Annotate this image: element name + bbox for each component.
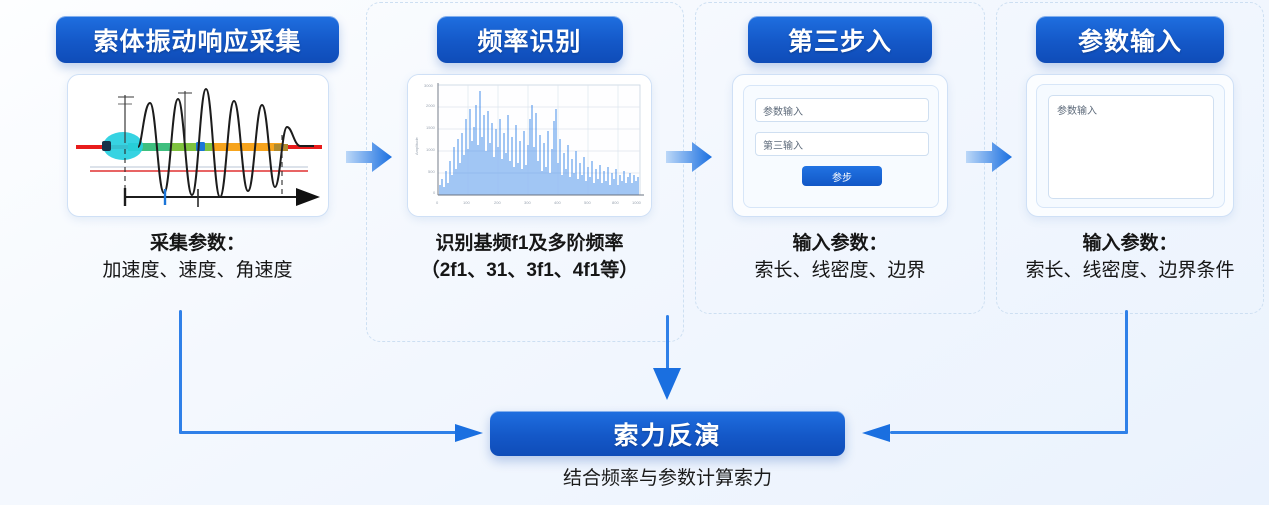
connector-left-horizontal <box>179 431 464 434</box>
svg-text:2000: 2000 <box>426 103 436 108</box>
svg-text:1000: 1000 <box>632 200 642 205</box>
step-arrow-3-icon <box>966 140 1012 174</box>
step-arrow-2-icon <box>666 140 712 174</box>
merge-arrow-right-icon <box>862 420 890 446</box>
svg-text:Amplitude: Amplitude <box>414 136 419 155</box>
vibration-waveform-chart <box>68 75 329 217</box>
step-3-caption-title: 输入参数： <box>715 231 965 258</box>
svg-text:100: 100 <box>463 200 470 205</box>
step-column-3: 第三步入 参数输入 第三输入 参步 输入参数： 索长、线密度、边界 <box>715 0 965 320</box>
svg-text:1000: 1000 <box>426 147 436 152</box>
svg-text:400: 400 <box>554 200 561 205</box>
step-1-caption: 采集参数： 加速度、速度、角速度 <box>55 231 340 285</box>
parameter-input-2[interactable]: 第三输入 <box>755 132 929 156</box>
result-subtitle: 结合频率与参数计算索力 <box>490 463 845 490</box>
merge-arrow-left-icon <box>455 420 483 446</box>
step-1-caption-title: 采集参数： <box>55 231 340 258</box>
svg-text:500: 500 <box>584 200 591 205</box>
parameter-form: 参数输入 第三输入 参步 <box>743 85 939 208</box>
parameter-submit-button[interactable]: 参步 <box>802 166 882 186</box>
connector-left-vertical <box>179 310 182 434</box>
svg-text:500: 500 <box>428 169 435 174</box>
parameter-input-1[interactable]: 参数输入 <box>755 98 929 122</box>
step-2-caption-title: 识别基频f1及多阶频率 <box>392 231 667 258</box>
step-arrow-1-icon <box>346 140 392 174</box>
frequency-spectrum-chart: 30002000 15001000 5000 0100 200300 40050… <box>408 75 652 217</box>
connector-right-horizontal <box>890 431 1128 434</box>
step-1-figure-card <box>67 74 329 217</box>
step-1-caption-body: 加速度、速度、角速度 <box>55 258 340 285</box>
step-3-caption: 输入参数： 索长、线密度、边界 <box>715 231 965 285</box>
step-1-header[interactable]: 索体振动响应采集 <box>56 16 339 63</box>
merge-arrow-down-icon <box>650 368 684 402</box>
step-2-figure-card: 30002000 15001000 5000 0100 200300 40050… <box>407 74 652 217</box>
step-4-caption: 输入参数： 索长、线密度、边界条件 <box>1010 231 1250 285</box>
connector-right-vertical <box>1125 310 1128 434</box>
step-2-caption-body: （2f1、31、3f1、4f1等） <box>392 258 667 285</box>
svg-text:200: 200 <box>494 200 501 205</box>
step-3-figure-card: 参数输入 第三输入 参步 <box>732 74 948 217</box>
step-2-caption: 识别基频f1及多阶频率 （2f1、31、3f1、4f1等） <box>392 231 667 285</box>
step-column-4: 参数输入 参数输入 输入参数： 索长、线密度、边界条件 <box>1010 0 1250 320</box>
svg-text:300: 300 <box>524 200 531 205</box>
result-label[interactable]: 索力反演 <box>490 411 845 456</box>
parameter-textarea-panel: 参数输入 <box>1036 84 1225 208</box>
step-4-caption-body: 索长、线密度、边界条件 <box>1010 258 1250 285</box>
svg-text:800: 800 <box>612 200 619 205</box>
step-4-figure-card: 参数输入 <box>1026 74 1234 217</box>
step-4-header[interactable]: 参数输入 <box>1036 16 1224 63</box>
parameter-textarea[interactable]: 参数输入 <box>1048 95 1214 199</box>
svg-text:1500: 1500 <box>426 125 436 130</box>
step-4-caption-title: 输入参数： <box>1010 231 1250 258</box>
svg-text:3000: 3000 <box>424 83 434 88</box>
step-3-header[interactable]: 第三步入 <box>748 16 932 63</box>
step-column-1: 索体振动响应采集 <box>55 0 340 320</box>
flowchart-diagram: 索体振动响应采集 <box>0 0 1269 505</box>
step-2-header[interactable]: 频率识别 <box>437 16 623 63</box>
step-3-caption-body: 索长、线密度、边界 <box>715 258 965 285</box>
step-column-2: 频率识别 <box>392 0 667 320</box>
